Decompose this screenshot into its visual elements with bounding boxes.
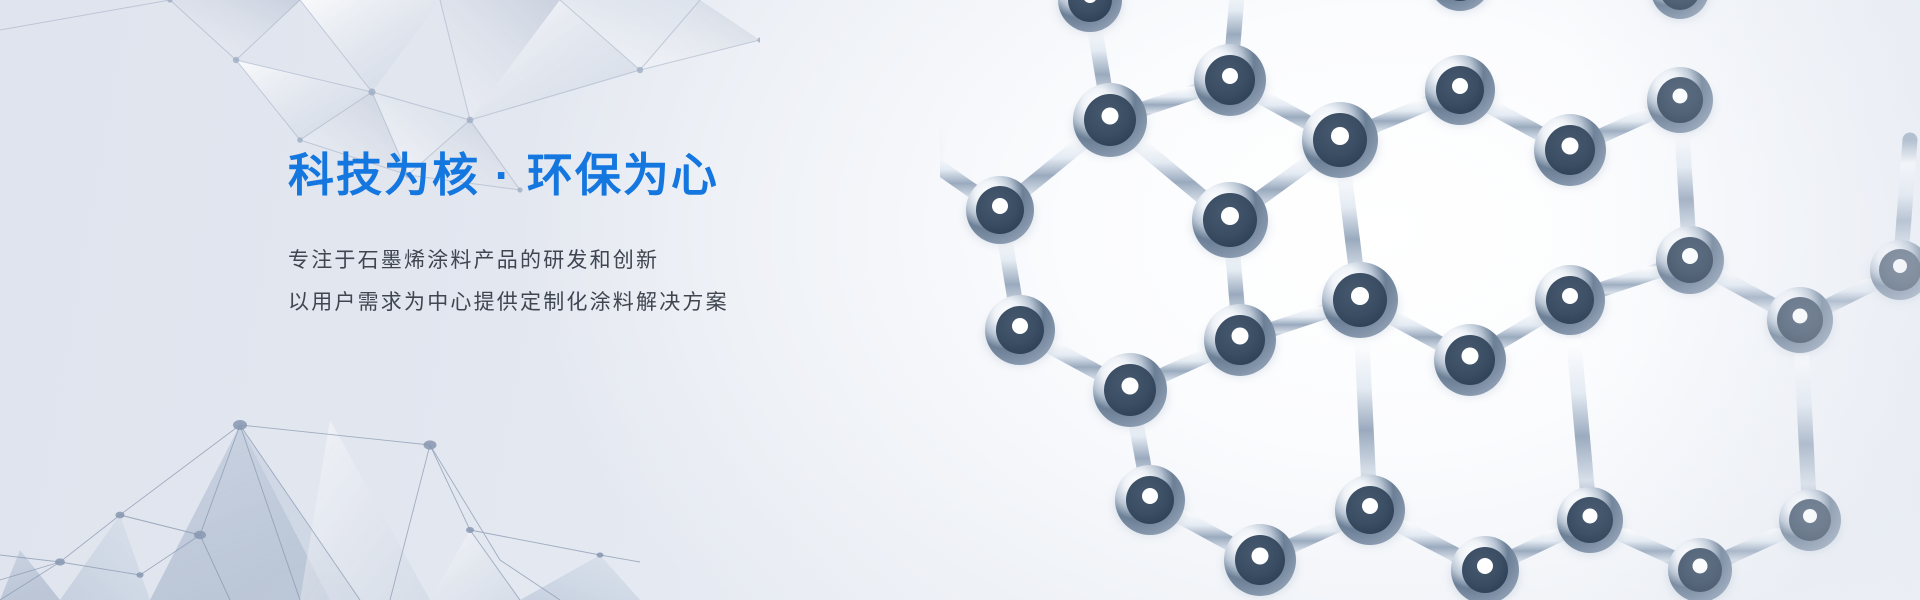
lattice-node <box>1302 102 1378 178</box>
lattice-node <box>1335 475 1405 545</box>
hero-text-block: 科技为核 · 环保为心 专注于石墨烯涂料产品的研发和创新 以用户需求为中心提供定… <box>288 148 908 324</box>
lattice-node <box>1429 0 1491 12</box>
hero-subtitle: 专注于石墨烯涂料产品的研发和创新 以用户需求为中心提供定制化涂料解决方案 <box>288 240 908 324</box>
lattice-node <box>1651 0 1709 20</box>
lattice-node <box>1779 489 1841 552</box>
lattice-node <box>1534 114 1606 186</box>
lattice-node <box>966 176 1034 244</box>
graphene-lattice-graphic <box>940 0 1920 600</box>
lattice-node <box>1668 538 1732 600</box>
lattice-node <box>1870 240 1920 301</box>
lattice-node <box>1204 304 1276 376</box>
lattice-node <box>1451 536 1519 600</box>
lattice-node <box>1656 226 1724 294</box>
lattice-node <box>1647 67 1713 134</box>
lattice-node <box>1224 524 1296 596</box>
lattice-node <box>1557 487 1623 554</box>
lattice-node <box>1194 44 1266 116</box>
hero-headline: 科技为核 · 环保为心 <box>288 148 908 202</box>
lattice-node <box>1767 287 1833 354</box>
lattice-node <box>1058 0 1122 32</box>
lattice-node <box>1434 324 1506 396</box>
lattice-node <box>1073 83 1147 157</box>
bottom-left-polygon-graphic <box>0 300 640 600</box>
hero-subtitle-line-2: 以用户需求为中心提供定制化涂料解决方案 <box>288 282 908 324</box>
hero-banner: 科技为核 · 环保为心 专注于石墨烯涂料产品的研发和创新 以用户需求为中心提供定… <box>0 0 1920 600</box>
lattice-node <box>1192 182 1268 258</box>
lattice-node <box>1535 265 1605 335</box>
lattice-node <box>1322 262 1398 338</box>
lattice-node <box>1115 465 1185 535</box>
hero-subtitle-line-1: 专注于石墨烯涂料产品的研发和创新 <box>288 240 908 282</box>
lattice-node <box>1425 55 1495 125</box>
lattice-node <box>985 295 1055 365</box>
lattice-node <box>1093 353 1167 427</box>
